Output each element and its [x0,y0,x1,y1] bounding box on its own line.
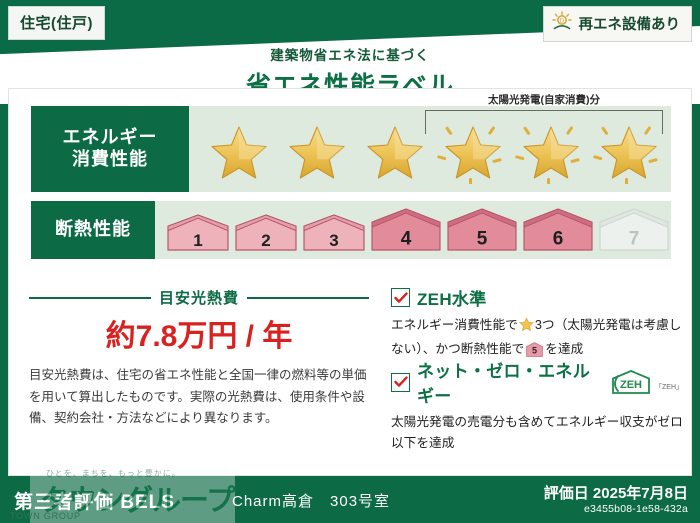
heading-rule-left [29,297,151,299]
star-icon [279,114,355,184]
insulation-label-cell: 断熱性能 [31,201,155,259]
insulation-grade-number: 3 [329,231,338,250]
sunrise-icon: D [551,11,573,36]
insulation-grade-active: 6 [521,207,595,253]
energy-performance-label: 住宅(住戸) D 再エネ設備あり 建築物省エネ法に基づく 省エネ性能ラベル [0,0,700,523]
bels-evaluation-label: 第三者評価 BELS [14,487,175,514]
zeh-logo-sublabel: 「ZEH」 [655,382,683,395]
zeh-level-description: エネルギー消費性能で3つ（太陽光発電は考慮しない）、かつ断熱性能で5を達成 [391,315,683,359]
inline-grade-badge: 5 [526,342,543,357]
insulation-grade-list: 1 2 3 4 5 6 [155,207,671,253]
insulation-grade-number: 1 [193,231,202,250]
net-zero-heading: ネット・ゼロ・エネルギー ZEH 「ZEH」 [391,357,683,407]
insulation-grade-active: 4 [369,207,443,253]
insulation-grade-inactive: 7 [597,207,671,253]
energy-performance-row: エネルギー 消費性能 太陽光発電(自家消費)分 [31,106,671,192]
footer: 第三者評価 BELS Charm高倉 303号室 評価日 2025年7月8日 e… [0,476,700,523]
net-zero-title: ネット・ゼロ・エネルギー [417,357,602,407]
insulation-grade-number: 4 [401,229,412,250]
energy-label-line1: エネルギー [63,127,158,149]
insulation-grade-number: 5 [477,229,488,250]
utility-cost-heading-label: 目安光熱費 [159,287,239,308]
insulation-grade-active: 2 [233,213,299,253]
zeh-logo-icon: ZEH 「ZEH」 [609,369,683,395]
heading-rule-right [247,297,369,299]
insulation-grade-active: 1 [165,213,231,253]
solar-star-icon [513,114,589,184]
star-icon [357,114,433,184]
dwelling-type-tag: 住宅(住戸) [8,6,105,40]
title-subtitle: 建築物省エネ法に基づく [0,44,700,64]
insulation-grade-number: 6 [553,229,564,250]
energy-label-line2: 消費性能 [72,149,148,171]
insulation-grade-active: 3 [301,213,367,253]
insulation-label: 断熱性能 [55,219,131,241]
insulation-grade-number: 7 [629,229,640,250]
property-name: Charm高倉 303号室 [232,490,390,511]
star-rating [189,114,667,184]
utility-cost-value: 約7.8万円 / 年 [29,311,369,355]
evaluation-id: e3455b08-1e58-432a [584,503,688,515]
zeh-level-title: ZEH水準 [417,285,487,310]
solar-star-icon [435,114,511,184]
checkmark-icon [391,373,410,392]
solar-star-icon [591,114,667,184]
energy-stars-panel: 太陽光発電(自家消費)分 [189,106,671,192]
zeh-level-heading: ZEH水準 [391,285,683,310]
renewable-energy-badge: D 再エネ設備あり [543,6,693,42]
net-zero-description: 太陽光発電の売電分も含めてエネルギー収支がゼロ以下を達成 [391,412,683,453]
net-zero-block: ネット・ゼロ・エネルギー ZEH 「ZEH」 太陽光発電の売電分も含めてエネルギ… [391,357,683,453]
zeh-desc-part1: エネルギー消費性能で [391,318,518,332]
utility-cost-heading: 目安光熱費 [29,287,369,308]
inline-grade-value: 5 [532,345,537,355]
inline-star-icon [519,317,534,339]
energy-performance-label-cell: エネルギー 消費性能 [31,106,189,192]
insulation-grade-active: 5 [445,207,519,253]
insulation-grade-number: 2 [261,231,270,250]
renewable-energy-badge-label: 再エネ設備あり [579,13,681,34]
svg-text:D: D [559,19,564,25]
utility-cost-note: 目安光熱費は、住宅の省エネ性能と全国一律の燃料等の単価を用いて算出したものです。… [29,365,369,430]
checkmark-icon [391,288,410,307]
insulation-grades-panel: 1 2 3 4 5 6 [155,201,671,259]
solar-bracket-caption: 太陽光発電(自家消費)分 [425,92,663,107]
insulation-performance-row: 断熱性能 1 2 3 4 [31,201,671,259]
label-card: エネルギー 消費性能 太陽光発電(自家消費)分 [8,88,692,476]
zeh-desc-part3: を達成 [545,342,583,356]
zeh-level-block: ZEH水準 エネルギー消費性能で3つ（太陽光発電は考慮しない）、かつ断熱性能で5… [391,285,683,359]
evaluation-date: 評価日 2025年7月8日 [544,482,688,503]
star-icon [201,114,277,184]
svg-text:ZEH: ZEH [620,379,642,391]
